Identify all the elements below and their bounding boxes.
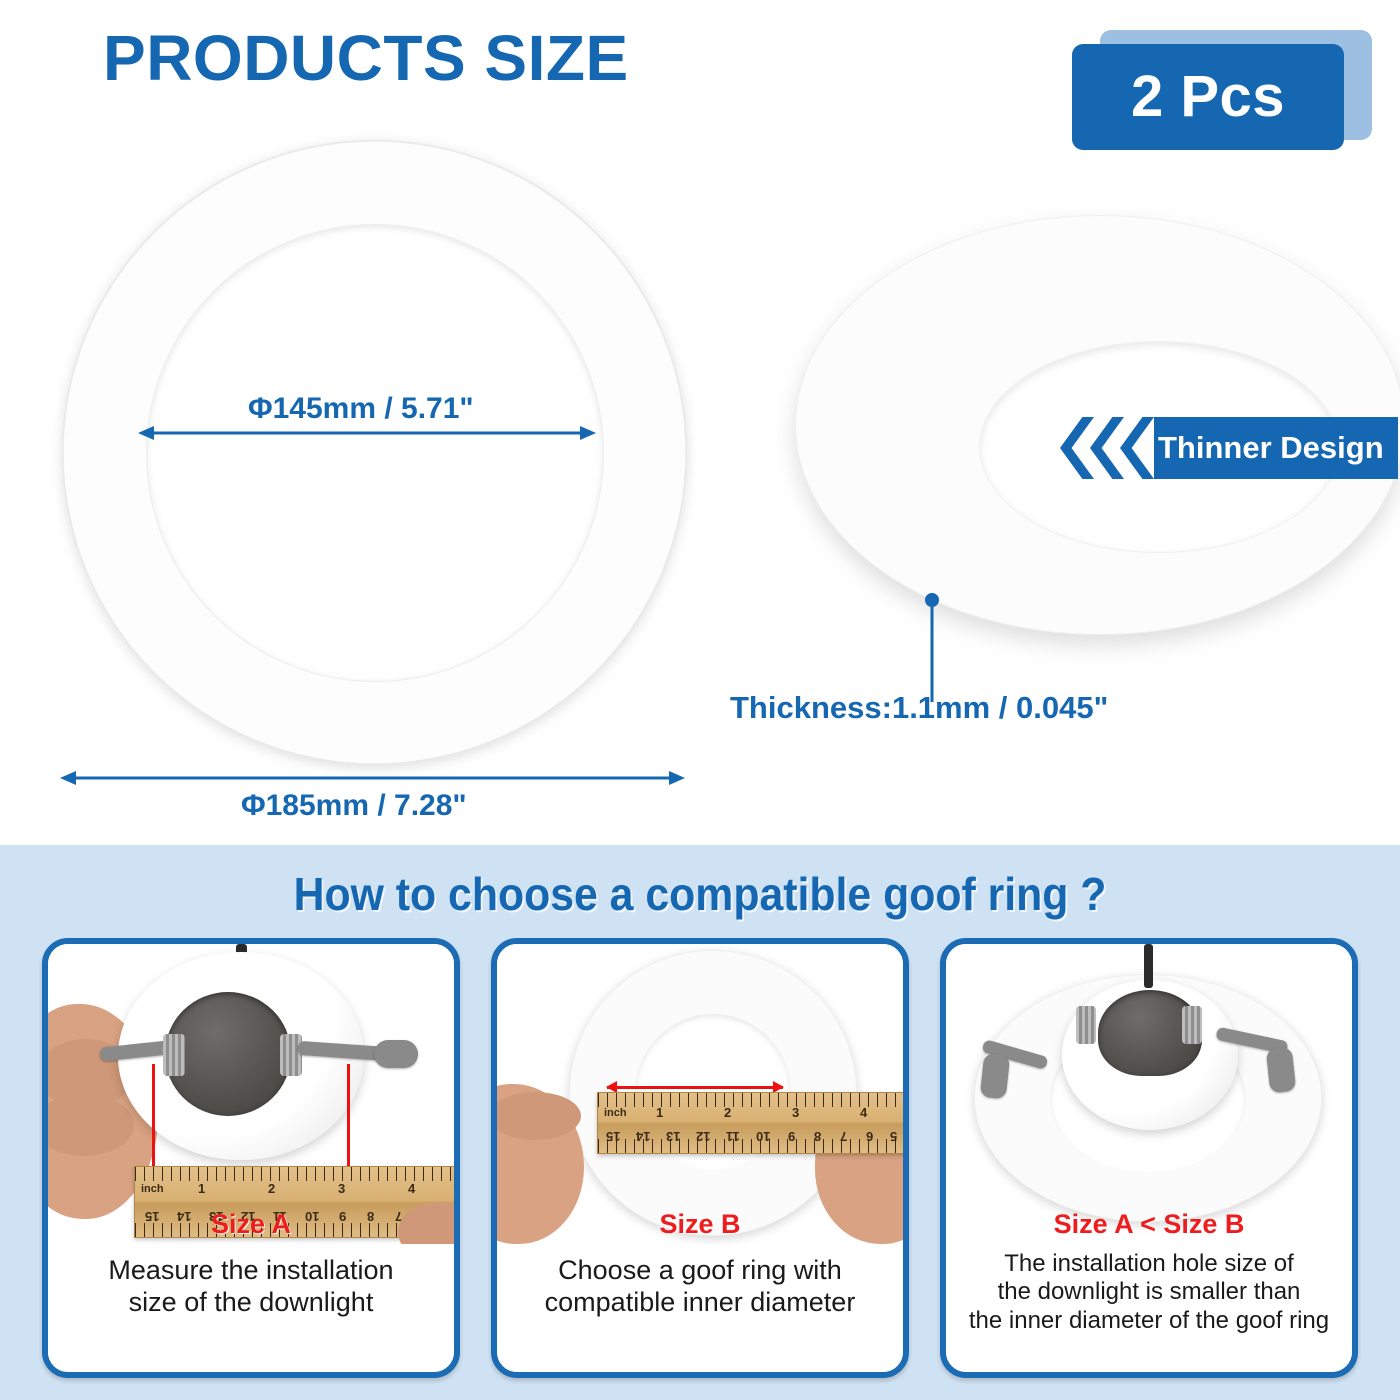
card-text-size-comparison: Size A < Size B The installation hole si…: [946, 1244, 1352, 1372]
chevron-left-icon: [1120, 417, 1154, 479]
thickness-leader-line: [922, 592, 942, 704]
badge-label: 2 Pcs: [1131, 68, 1285, 126]
card-text-size-a: Size A Measure the installation size of …: [48, 1244, 454, 1372]
card-photo-installed-downlight: [946, 944, 1352, 1244]
thinner-design-banner: Thinner Design: [1060, 417, 1398, 479]
chevron-left-icon: [1090, 417, 1124, 479]
card-caption-b: Choose a goof ring with compatible inner…: [497, 1246, 903, 1319]
guide-card-list: inch 1 2 3 4 15 14 13 12 11 10 9: [0, 938, 1400, 1383]
thickness-label: Thickness:1.1mm / 0.045": [730, 690, 1108, 726]
how-to-choose-title: How to choose a compatible goof ring ?: [49, 867, 1351, 921]
size-tag-b: Size B: [497, 1210, 903, 1238]
how-to-choose-section: How to choose a compatible goof ring ?: [0, 845, 1400, 1400]
card-photo-measure-downlight: inch 1 2 3 4 15 14 13 12 11 10 9: [48, 944, 454, 1244]
outer-diameter-arrow: [60, 765, 685, 791]
card-photo-measure-goof-ring: inch 1 2 3 4 15 14 13 12 11 10 9: [497, 944, 903, 1244]
size-tag-comparison: Size A < Size B: [946, 1210, 1352, 1238]
goof-ring-inner-hole: [146, 224, 604, 682]
thinner-design-label-bg: Thinner Design: [1154, 417, 1398, 479]
products-size-section: PRODUCTS SIZE 2 Pcs Φ145mm / 5.71" Φ185m…: [0, 0, 1400, 845]
guide-card-size-a: inch 1 2 3 4 15 14 13 12 11 10 9: [42, 938, 460, 1378]
guide-card-size-comparison: Size A < Size B The installation hole si…: [940, 938, 1358, 1378]
size-tag-a: Size A: [48, 1210, 454, 1238]
badge-front-card: 2 Pcs: [1072, 44, 1344, 150]
guide-card-size-b: inch 1 2 3 4 15 14 13 12 11 10 9: [491, 938, 909, 1378]
page-title: PRODUCTS SIZE: [103, 26, 629, 90]
card-caption-comparison: The installation hole size of the downli…: [946, 1246, 1352, 1335]
product-size-infographic: PRODUCTS SIZE 2 Pcs Φ145mm / 5.71" Φ185m…: [0, 0, 1400, 1400]
card-caption-a: Measure the installation size of the dow…: [48, 1246, 454, 1319]
outer-diameter-label: Φ185mm / 7.28": [241, 789, 467, 823]
chevron-left-icon: [1060, 417, 1094, 479]
thinner-design-label: Thinner Design: [1158, 430, 1384, 466]
quantity-badge: 2 Pcs: [1072, 30, 1372, 150]
inner-diameter-arrow: [138, 420, 596, 446]
card-text-size-b: Size B Choose a goof ring with compatibl…: [497, 1244, 903, 1372]
